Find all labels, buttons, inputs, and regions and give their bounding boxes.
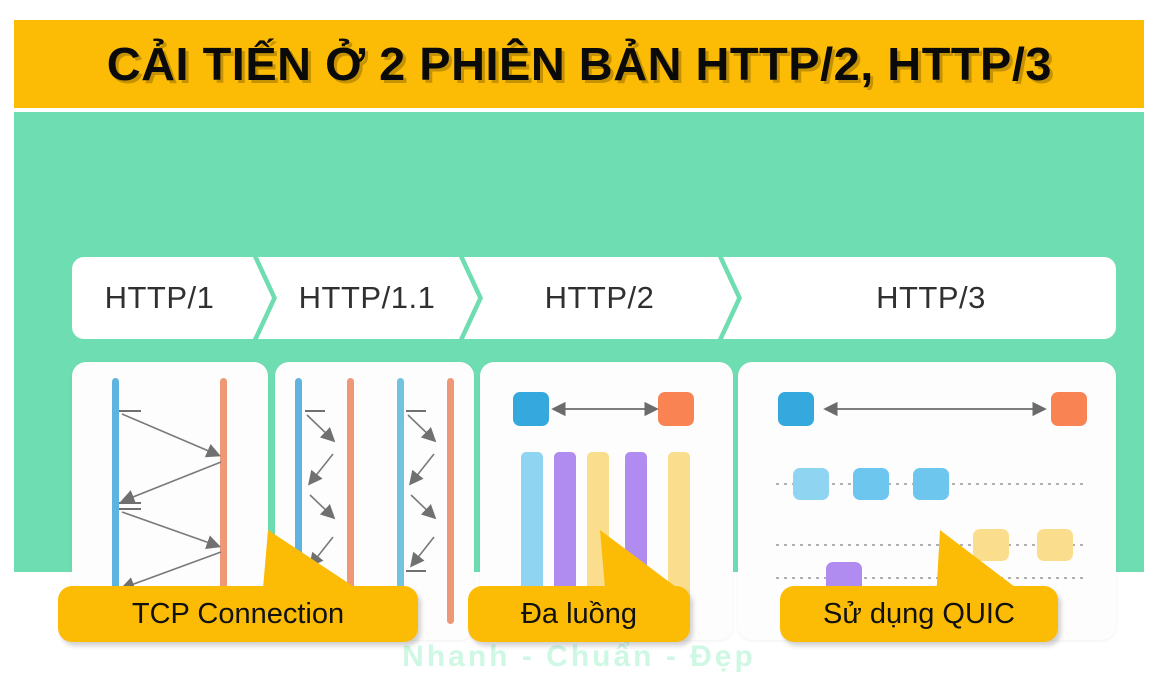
stream-packet: [913, 468, 949, 500]
callout-quic-box[interactable]: Sử dụng QUIC: [780, 586, 1058, 642]
stream-packet: [1037, 529, 1073, 561]
title-bar: CẢI TIẾN Ở 2 PHIÊN BẢN HTTP/2, HTTP/3: [14, 20, 1144, 108]
stream-packet: [793, 468, 829, 500]
stage-label: HTTP/2: [545, 280, 655, 316]
stage-http1[interactable]: HTTP/1: [72, 257, 247, 339]
callout-label: Đa luồng: [521, 598, 637, 631]
stage-bar: HTTP/1 HTTP/1.1 HTTP/2 HTTP/3: [72, 257, 1116, 339]
callout-label: Sử dụng QUIC: [823, 598, 1015, 631]
stream-packet: [853, 468, 889, 500]
chevron-separator-2-icon: [453, 257, 487, 339]
chevron-separator-3-icon: [712, 257, 746, 339]
infographic-root: CẢI TIẾN Ở 2 PHIÊN BẢN HTTP/2, HTTP/3 LI…: [0, 0, 1158, 666]
stage-label: HTTP/1.1: [299, 280, 436, 316]
stage-http3[interactable]: HTTP/3: [746, 257, 1116, 339]
callout-label: TCP Connection: [132, 598, 344, 631]
page-title: CẢI TIẾN Ở 2 PHIÊN BẢN HTTP/2, HTTP/3: [106, 37, 1051, 91]
diagram-board: LIGHT Nhanh - Chuẩn - Đẹp HTTP/1 HTTP/1.…: [14, 112, 1144, 572]
stage-http1-1[interactable]: HTTP/1.1: [281, 257, 453, 339]
watermark-tagline: Nhanh - Chuẩn - Đẹp: [402, 640, 756, 674]
callout-tcp-connection-box[interactable]: TCP Connection: [58, 586, 418, 642]
stage-label: HTTP/1: [105, 280, 215, 316]
stage-label: HTTP/3: [876, 280, 986, 316]
chevron-separator-1-icon: [247, 257, 281, 339]
stage-http2[interactable]: HTTP/2: [487, 257, 712, 339]
callout-multiplexing-box[interactable]: Đa luồng: [468, 586, 690, 642]
